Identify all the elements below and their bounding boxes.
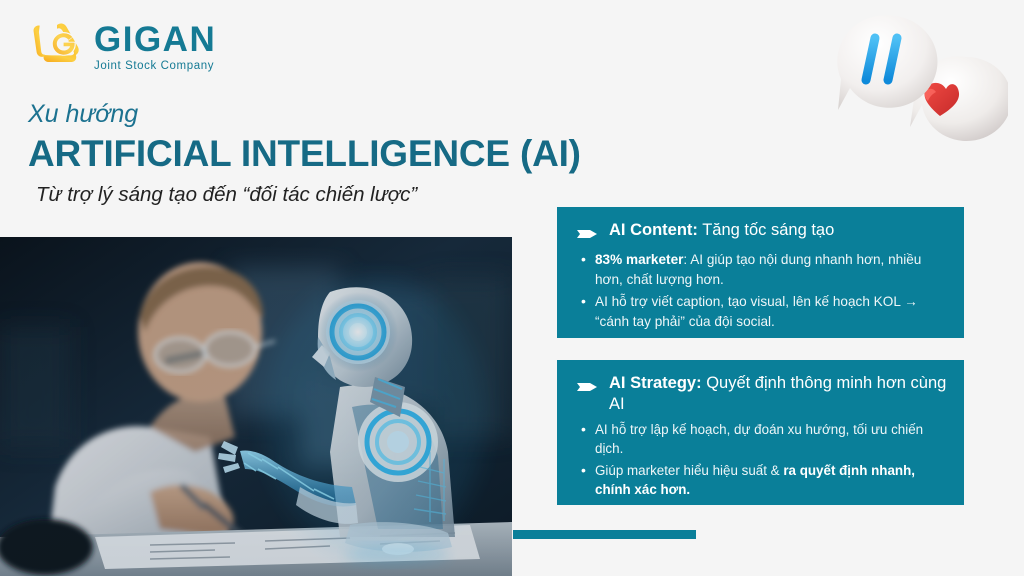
list-item: AI hỗ trợ lập kế hoạch, dự đoán xu hướng… [579, 420, 944, 459]
card-ai-content-subtitle: Tăng tốc sáng tạo [698, 221, 834, 239]
page-title: ARTIFICIAL INTELLIGENCE (AI) [28, 132, 581, 176]
brand-name: GIGAN [94, 22, 216, 57]
bullet-text: AI hỗ trợ viết caption, tạo visual, lên … [595, 294, 918, 329]
list-item: AI hỗ trợ viết caption, tạo visual, lên … [579, 292, 944, 331]
flag-arrow-icon [577, 378, 599, 399]
brand-tagline: Joint Stock Company [94, 60, 216, 72]
bullet-lead: 83% marketer [595, 252, 683, 267]
list-item: Giúp marketer hiểu hiệu suất & ra quyết … [579, 461, 944, 500]
slide-canvas: GIGAN Joint Stock Company Xu hướng ARTIF… [0, 0, 1024, 576]
gigan-triangle-logo-icon [28, 18, 84, 74]
list-item: 83% marketer: AI giúp tạo nội dung nhanh… [579, 250, 944, 289]
brand-logo: GIGAN Joint Stock Company [28, 18, 216, 74]
heading-subtitle: Từ trợ lý sáng tạo đến “đối tác chiến lư… [36, 183, 581, 208]
card-ai-content-title: AI Content: [609, 221, 698, 239]
card-ai-strategy-header: AI Strategy: Quyết định thông minh hơn c… [573, 373, 948, 416]
heading-block: Xu hướng ARTIFICIAL INTELLIGENCE (AI) Từ… [28, 100, 581, 208]
decorative-bubbles [818, 4, 1008, 144]
card-ai-strategy-bullets: AI hỗ trợ lập kế hoạch, dự đoán xu hướng… [573, 420, 948, 500]
card-ai-strategy-title: AI Strategy: [609, 374, 702, 392]
card-ai-strategy: AI Strategy: Quyết định thông minh hơn c… [557, 360, 964, 505]
bullet-text: AI hỗ trợ lập kế hoạch, dự đoán xu hướng… [595, 422, 923, 456]
card-ai-content-bullets: 83% marketer: AI giúp tạo nội dung nhanh… [573, 250, 948, 331]
heading-eyebrow: Xu hướng [28, 100, 581, 129]
bullet-text: Giúp marketer hiểu hiệu suất & [595, 463, 783, 478]
card-ai-content: AI Content: Tăng tốc sáng tạo 83% market… [557, 207, 964, 338]
accent-bar [513, 530, 696, 539]
flag-arrow-icon [577, 225, 599, 246]
ai-collaboration-photo [0, 237, 512, 576]
card-ai-content-header: AI Content: Tăng tốc sáng tạo [573, 220, 948, 246]
